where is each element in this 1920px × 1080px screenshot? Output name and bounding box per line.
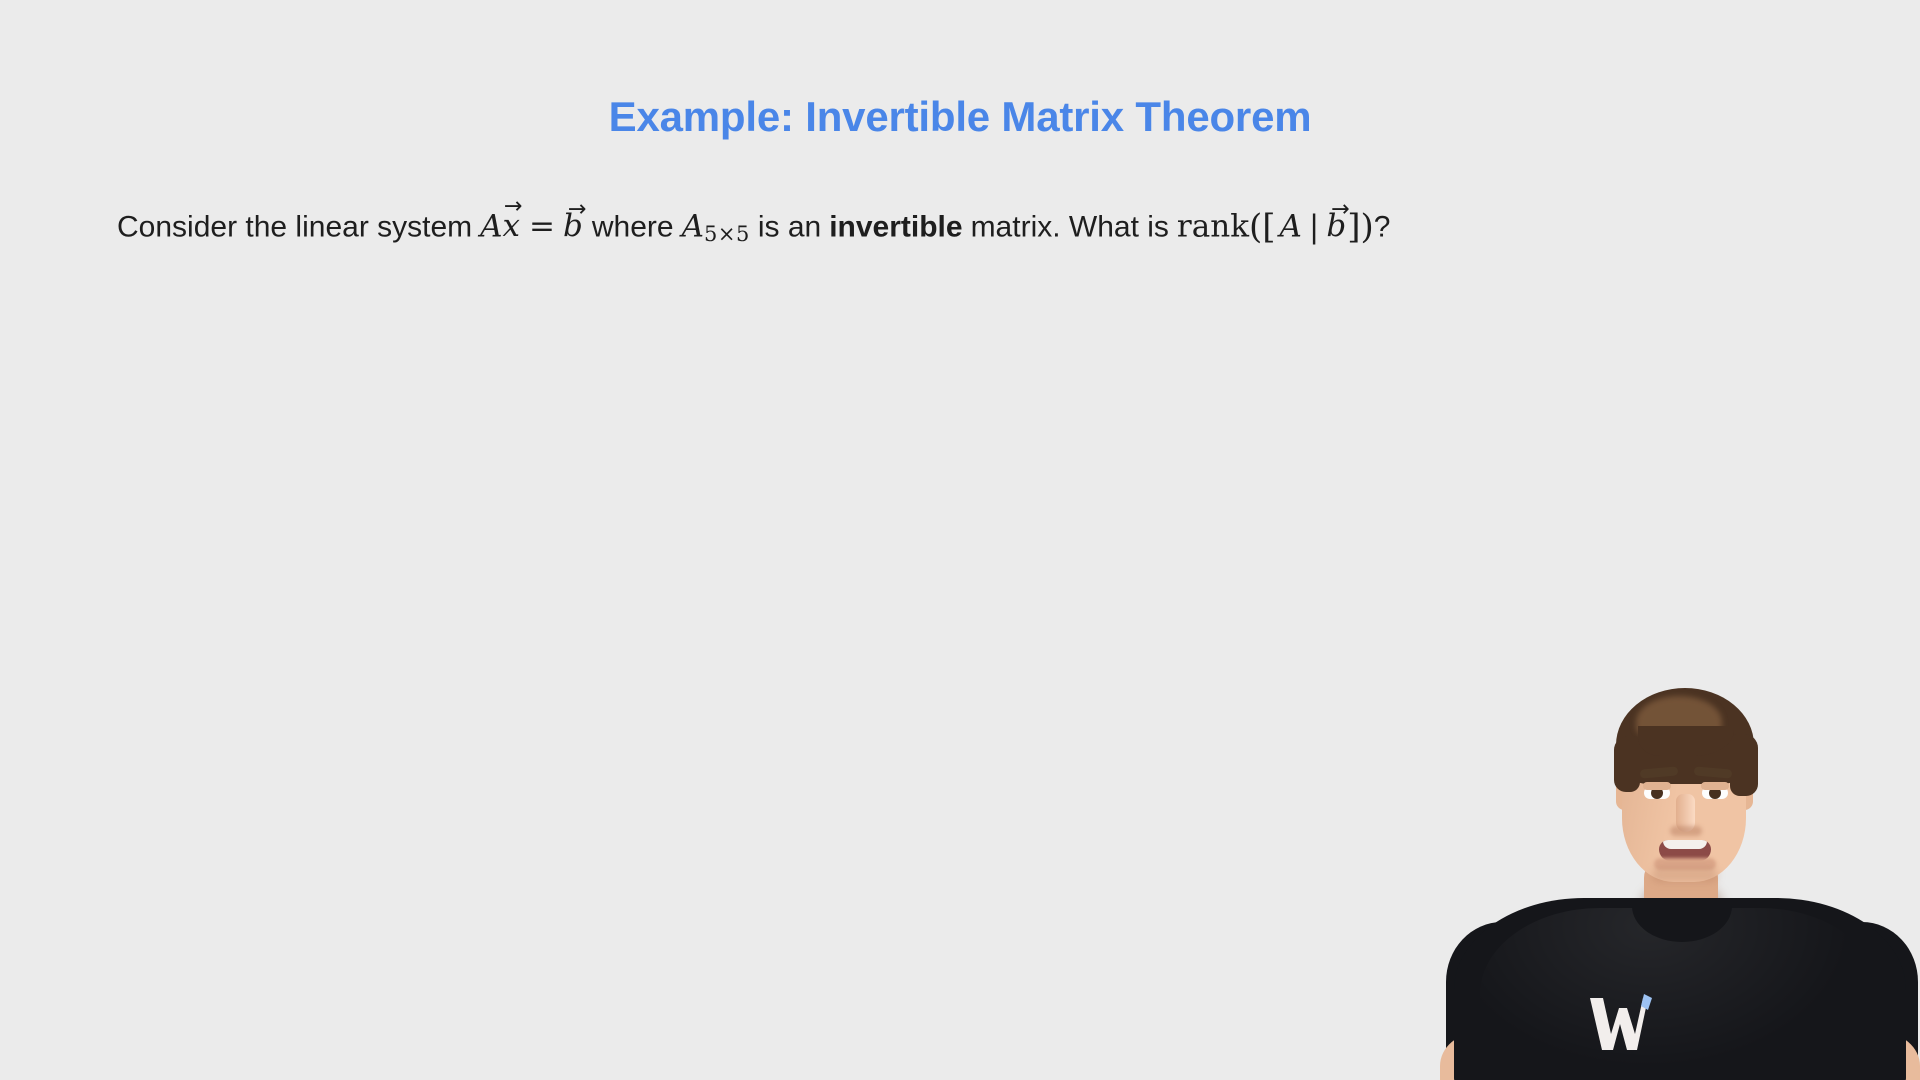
math-vector-x: →x (503, 208, 521, 245)
math-vector-b: →b (563, 208, 584, 245)
math-dims-subscript: 5×5 (704, 222, 750, 246)
math-augmented-A: A (1280, 208, 1302, 244)
body-where-text: where (592, 210, 674, 243)
math-rank-operator: rank (1177, 208, 1249, 244)
math-augmented-vector-b: →b (1326, 208, 1347, 245)
math-bracket-open: [ (1262, 207, 1275, 247)
slide-title: Example: Invertible Matrix Theorem (0, 96, 1920, 138)
body-lead-text: Consider the linear system (117, 210, 472, 243)
slide-body-text: Consider the linear systemA→x=→bwhereA5×… (117, 207, 1837, 247)
body-question-mark: ? (1374, 210, 1391, 243)
body-emphasis-invertible: invertible (829, 210, 962, 243)
math-matrix-A-dims: A (682, 208, 704, 244)
math-paren-open: ( (1249, 207, 1262, 247)
body-matrix-question-text: matrix. What is (971, 210, 1169, 243)
math-augment-bar: | (1302, 209, 1326, 245)
math-paren-close: ) (1360, 207, 1373, 247)
slide-canvas: Example: Invertible Matrix Theorem Consi… (0, 0, 1920, 1080)
body-is-an-text: is an (758, 210, 821, 243)
math-matrix-A: A (480, 208, 502, 244)
math-bracket-close: ] (1347, 207, 1360, 247)
math-equals: = (529, 208, 555, 244)
